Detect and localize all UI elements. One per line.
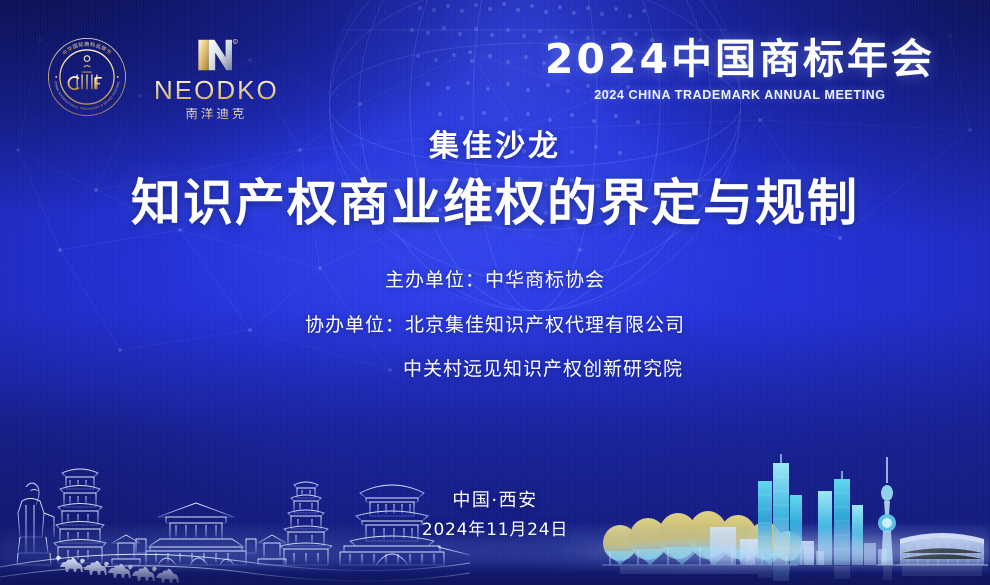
neodko-n-mark-icon: R xyxy=(192,35,240,75)
event-date: 2024年11月24日 xyxy=(0,517,990,543)
organizer-block: 主办单位：中华商标协会 协办单位：北京集佳知识产权代理有限公司 中关村远见知识产… xyxy=(0,258,990,392)
event-place-date: 中国·西安 2024年11月24日 xyxy=(0,488,990,543)
poster-canvas: 中华国际商标品牌节 CHINA INTERNATIONAL TRADEMARK … xyxy=(0,0,990,585)
neodko-chinese-name: 南洋迪克 xyxy=(185,108,247,121)
cta-emblem-icon: 中华国际商标品牌节 CHINA INTERNATIONAL TRADEMARK … xyxy=(46,36,128,118)
organizer-line-coorganizer-1: 协办单位：北京集佳知识产权代理有限公司 xyxy=(0,303,990,348)
title-block: 集佳沙龙 知识产权商业维权的界定与规制 xyxy=(0,128,990,233)
annual-meeting-branding: 2024中国商标年会 2024 CHINA TRADEMARK ANNUAL M… xyxy=(545,38,935,102)
meeting-title-en: 2024 CHINA TRADEMARK ANNUAL MEETING xyxy=(545,88,935,102)
svg-text:R: R xyxy=(235,40,237,44)
neodko-logo: R NEODKO 南洋迪克 xyxy=(154,35,279,121)
series-name: 集佳沙龙 xyxy=(0,128,990,166)
logo-group: 中华国际商标品牌节 CHINA INTERNATIONAL TRADEMARK … xyxy=(46,33,279,121)
organizer-line-coorganizer-2: 中关村远见知识产权创新研究院 xyxy=(0,347,990,392)
neodko-wordmark: NEODKO xyxy=(154,77,279,103)
event-place: 中国·西安 xyxy=(0,488,990,514)
page-title: 知识产权商业维权的界定与规制 xyxy=(0,173,990,233)
meeting-title-cn: 2024中国商标年会 xyxy=(545,38,935,81)
organizer-line-host: 主办单位：中华商标协会 xyxy=(0,258,990,303)
